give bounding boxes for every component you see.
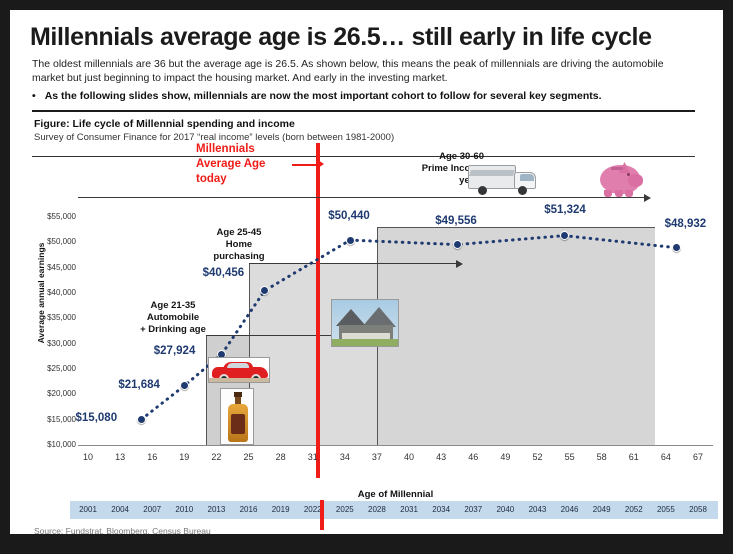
year-tick-label: 2016 [232,505,266,514]
data-point-label: $51,324 [544,204,586,216]
y-tick-label: $55,000 [14,212,76,221]
year-tick-label: 2034 [424,505,458,514]
x-tick-label: 19 [169,452,199,462]
rv-windshield [520,174,534,181]
rv-stripe [469,170,515,176]
y-tick-label: $15,000 [14,415,76,424]
annotation-age-25-45-home: Age 25-45 Home purchasing [196,227,282,263]
data-point[interactable] [346,236,355,245]
year-tick-label: 2022 [296,505,330,514]
x-axis-title: Age of Millennial [78,489,713,500]
year-tick-label: 2058 [681,505,715,514]
x-tick-label: 34 [330,452,360,462]
house-icon [331,299,399,347]
page-title: Millennials average age is 26.5… still e… [30,22,705,52]
y-axis-title: Average annual earnings [36,238,46,348]
annotation-millennials-average-age: Millennials Average Age today [196,142,291,187]
piggy-leg-0 [604,190,612,197]
x-tick-label: 58 [587,452,617,462]
x-tick-label: 31 [298,452,328,462]
whiskey-bottle-icon [220,388,254,445]
band-arrow-head-age-25-45 [456,260,463,268]
page-summary-text: The oldest millennials are 36 but the av… [32,58,697,85]
figure-title: Figure: Life cycle of Millennial spendin… [34,118,295,130]
slide-canvas: Millennials average age is 26.5… still e… [10,10,723,534]
year-tick-label: 2028 [360,505,394,514]
x-tick-label: 61 [619,452,649,462]
year-tick-label: 2049 [585,505,619,514]
year-tick-label: 2007 [135,505,169,514]
x-tick-label: 49 [490,452,520,462]
data-point-label: $15,080 [76,412,118,424]
y-tick-label: $25,000 [14,364,76,373]
x-tick-label: 25 [234,452,264,462]
data-point[interactable] [180,381,189,390]
x-tick-label: 43 [426,452,456,462]
year-tick-label: 2040 [488,505,522,514]
year-tick-label: 2031 [392,505,426,514]
piggy-slot [611,167,623,170]
source-note: Source: Fundstrat, Bloomberg, Census Bur… [34,526,211,534]
year-tick-label: 2052 [617,505,651,514]
y-tick-label: $20,000 [14,389,76,398]
x-axis-line [78,445,713,446]
annotation-arrow-red [292,164,320,166]
band-outline-age-30-60 [377,227,655,445]
data-point[interactable] [672,243,681,252]
year-axis-strip: 2001200420072010201320162019202220252028… [70,500,718,519]
average-age-marker-line-lower [320,500,324,530]
timeline-arrow [78,197,644,198]
year-tick-label: 2013 [199,505,233,514]
data-point[interactable] [453,240,462,249]
rv-box [468,165,516,189]
car-window [227,363,249,368]
x-tick-label: 52 [522,452,552,462]
year-tick-label: 2046 [553,505,587,514]
bullet-marker-icon: • [32,90,36,103]
x-tick-label: 37 [362,452,392,462]
data-point-label: $21,684 [118,379,160,391]
piggy-leg-1 [615,190,623,197]
year-tick-label: 2037 [456,505,490,514]
piggy-eye [627,173,630,176]
data-point-label: $40,456 [203,267,245,279]
car-icon [208,357,270,383]
data-point-label: $27,924 [154,345,196,357]
line-chart: $10,000$15,000$20,000$25,000$30,000$35,0… [10,140,723,470]
average-age-marker-line [316,143,320,478]
annotation-age-21-35-auto: Age 21-35 Automobile + Drinking age [130,300,216,336]
page-bullet: • As the following slides show, millenni… [32,90,697,103]
bottle-label [231,414,245,434]
rv-camper-icon [466,159,540,199]
x-tick-label: 16 [137,452,167,462]
band-arrow-age-25-45 [249,263,456,264]
x-tick-label: 64 [651,452,681,462]
rv-wheel-0 [478,186,487,195]
piggy-bank-icon [595,157,647,201]
page-bullet-text: As the following slides show, millennial… [45,90,602,103]
data-point[interactable] [560,231,569,240]
x-tick-label: 28 [266,452,296,462]
x-tick-label: 22 [201,452,231,462]
x-tick-label: 10 [73,452,103,462]
piggy-leg-2 [625,190,633,197]
annotation-arrow-red-head [318,160,324,168]
band-arrow-age-21-35 [206,335,349,336]
rv-wheel-1 [518,186,527,195]
year-tick-label: 2010 [167,505,201,514]
piggy-snout [628,174,643,187]
car-ground [209,378,269,382]
data-point-label: $49,556 [435,215,477,227]
y-tick-label: $10,000 [14,440,76,449]
bottle-cap [234,392,242,397]
year-tick-label: 2043 [520,505,554,514]
timeline-arrow-head [644,194,651,202]
year-tick-label: 2019 [264,505,298,514]
header-divider [32,110,695,112]
data-point[interactable] [137,415,146,424]
year-tick-label: 2055 [649,505,683,514]
year-tick-label: 2004 [103,505,137,514]
x-tick-label: 40 [394,452,424,462]
x-tick-label: 46 [458,452,488,462]
house-lawn [332,339,398,346]
x-tick-label: 67 [683,452,713,462]
x-tick-label: 13 [105,452,135,462]
data-point-label: $48,932 [665,218,707,230]
data-point-label: $50,440 [328,210,370,222]
x-tick-label: 55 [555,452,585,462]
year-tick-label: 2001 [71,505,105,514]
plot-area: $15,080$21,684$27,924$40,456$50,440$49,5… [78,145,713,470]
year-tick-label: 2025 [328,505,362,514]
